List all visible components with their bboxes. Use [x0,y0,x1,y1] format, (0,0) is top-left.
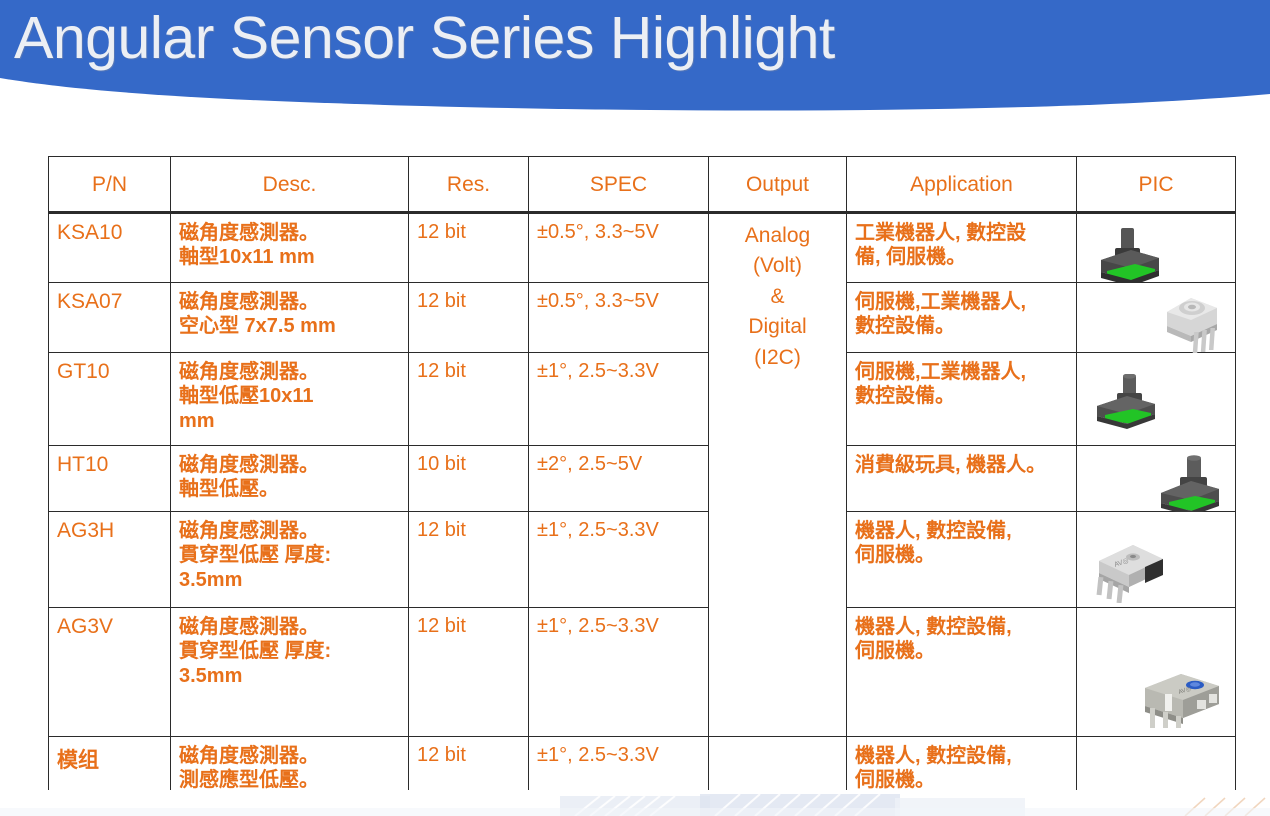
table-header-row: P/N Desc. Res. SPEC Output Application P… [49,157,1236,213]
app-line: 伺服機。 [855,768,1068,792]
table-row: AG3H 磁角度感測器。 貫穿型低壓 厚度: 3.5mm 12 bit ±1°,… [49,512,1236,608]
column-header-application: Application [847,157,1077,213]
desc-line: 磁角度感測器。 [179,360,400,384]
cell-spec: ±0.5°, 3.3~5V [529,283,709,353]
output-line: (I2C) [717,343,838,373]
cell-pic [1077,446,1236,512]
column-header-pn: P/N [49,157,171,213]
cell-application: 消費級玩具, 機器人。 [847,446,1077,512]
app-line: 伺服機,工業機器人, [855,360,1068,384]
app-line: 機器人, 數控設備, [855,519,1068,543]
cell-pic: AV◎ [1077,608,1236,737]
desc-line: 空心型 7x7.5 mm [179,314,400,338]
cell-res: 12 bit [409,608,529,737]
cell-output-empty [709,737,847,803]
pic-wrapper [1085,290,1227,346]
hollow-sensor-3pin-icon [1161,292,1223,356]
cell-desc: 磁角度感測器。 軸型10x11 mm [171,213,409,283]
pic-wrapper [1085,453,1227,505]
desc-line: 貫穿型低壓 厚度: [179,543,400,567]
cell-application: 伺服機,工業機器人, 數控設備。 [847,283,1077,353]
desc-line: 軸型低壓10x11 [179,384,400,408]
through-hole-vertical-icon: AV◎ [1139,672,1225,728]
desc-line: 磁角度感測器。 [179,453,400,477]
pic-wrapper [1085,744,1227,796]
cell-desc: 磁角度感測器。 軸型低壓10x11 mm [171,353,409,446]
cell-spec: ±1°, 2.5~3.3V [529,737,709,803]
table-row: KSA07 磁角度感測器。 空心型 7x7.5 mm 12 bit ±0.5°,… [49,283,1236,353]
cell-res: 12 bit [409,283,529,353]
output-line: Analog [717,221,838,251]
cell-pic [1077,353,1236,446]
cell-pn: GT10 [49,353,171,446]
app-line: 機器人, 數控設備, [855,615,1068,639]
app-line: 伺服機。 [855,639,1068,663]
table-row: 模组 磁角度感測器。 測感應型低壓。 12 bit ±1°, 2.5~3.3V … [49,737,1236,803]
cell-spec: ±1°, 2.5~3.3V [529,512,709,608]
desc-line: 測感應型低壓。 [179,768,400,792]
column-header-output: Output [709,157,847,213]
angular-sensor-spec-table: P/N Desc. Res. SPEC Output Application P… [48,156,1236,803]
cell-pic [1077,737,1236,803]
page-title: Angular Sensor Series Highlight [14,4,835,72]
output-line: & [717,282,838,312]
cell-pn: AG3V [49,608,171,737]
column-header-res: Res. [409,157,529,213]
shaft-encoder-tall-icon [1153,455,1225,517]
cell-application: 伺服機,工業機器人, 數控設備。 [847,353,1077,446]
app-line: 伺服機,工業機器人, [855,290,1068,314]
column-header-pic: PIC [1077,157,1236,213]
desc-line: 磁角度感測器。 [179,519,400,543]
cell-application: 機器人, 數控設備, 伺服機。 [847,608,1077,737]
cell-pn: KSA07 [49,283,171,353]
table-row: AG3V 磁角度感測器。 貫穿型低壓 厚度: 3.5mm 12 bit ±1°,… [49,608,1236,737]
desc-line: 磁角度感測器。 [179,290,400,314]
cell-desc: 磁角度感測器。 測感應型低壓。 [171,737,409,803]
desc-line: 磁角度感測器。 [179,615,400,639]
desc-line: 軸型10x11 mm [179,245,400,269]
cell-pic: AV◎ [1077,512,1236,608]
pic-wrapper: AV◎ [1085,615,1227,730]
shaft-encoder-gray-icon [1093,374,1163,430]
pic-wrapper: AV◎ [1085,519,1227,601]
cell-res: 12 bit [409,353,529,446]
app-line: 數控設備。 [855,384,1068,408]
app-line: 消費級玩具, 機器人。 [855,453,1068,477]
through-hole-flat-icon: AV◎ [1089,541,1171,603]
cell-pn: AG3H [49,512,171,608]
desc-line: 軸型低壓。 [179,477,400,501]
cell-desc: 磁角度感測器。 貫穿型低壓 厚度: 3.5mm [171,608,409,737]
cell-pic [1077,283,1236,353]
cell-pn: HT10 [49,446,171,512]
cell-desc: 磁角度感測器。 軸型低壓。 [171,446,409,512]
table-row: KSA10 磁角度感測器。 軸型10x11 mm 12 bit ±0.5°, 3… [49,213,1236,283]
cell-application: 機器人, 數控設備, 伺服機。 [847,512,1077,608]
column-header-spec: SPEC [529,157,709,213]
shaft-encoder-black-icon [1091,226,1169,288]
desc-line: 3.5mm [179,568,400,592]
cell-res: 10 bit [409,446,529,512]
desc-line: mm [179,409,400,433]
output-line: Digital [717,312,838,342]
table-row: GT10 磁角度感測器。 軸型低壓10x11 mm 12 bit ±1°, 2.… [49,353,1236,446]
cell-desc: 磁角度感測器。 貫穿型低壓 厚度: 3.5mm [171,512,409,608]
cell-res: 12 bit [409,512,529,608]
cell-application: 工業機器人, 數控設 備, 伺服機。 [847,213,1077,283]
cell-application: 機器人, 數控設備, 伺服機。 [847,737,1077,803]
cell-pic [1077,213,1236,283]
app-line: 備, 伺服機。 [855,245,1068,269]
cell-spec: ±2°, 2.5~5V [529,446,709,512]
cell-desc: 磁角度感測器。 空心型 7x7.5 mm [171,283,409,353]
cell-spec: ±1°, 2.5~3.3V [529,353,709,446]
app-line: 工業機器人, 數控設 [855,221,1068,245]
cell-output-merged: Analog (Volt) & Digital (I2C) [709,213,847,737]
cell-spec: ±0.5°, 3.3~5V [529,213,709,283]
header-banner: Angular Sensor Series Highlight [0,0,1270,112]
desc-line: 3.5mm [179,664,400,688]
cell-pn: 模组 [49,737,171,803]
table-row: HT10 磁角度感測器。 軸型低壓。 10 bit ±2°, 2.5~5V 消費… [49,446,1236,512]
output-line: (Volt) [717,251,838,281]
desc-line: 磁角度感測器。 [179,221,400,245]
cell-res: 12 bit [409,213,529,283]
spec-table-container: P/N Desc. Res. SPEC Output Application P… [48,156,1235,812]
app-line: 伺服機。 [855,543,1068,567]
desc-line: 磁角度感測器。 [179,744,400,768]
desc-line: 貫穿型低壓 厚度: [179,639,400,663]
cell-res: 12 bit [409,737,529,803]
pic-wrapper [1085,360,1227,439]
cell-spec: ±1°, 2.5~3.3V [529,608,709,737]
pic-wrapper [1085,221,1227,276]
cell-pn: KSA10 [49,213,171,283]
app-line: 機器人, 數控設備, [855,744,1068,768]
app-line: 數控設備。 [855,314,1068,338]
column-header-desc: Desc. [171,157,409,213]
